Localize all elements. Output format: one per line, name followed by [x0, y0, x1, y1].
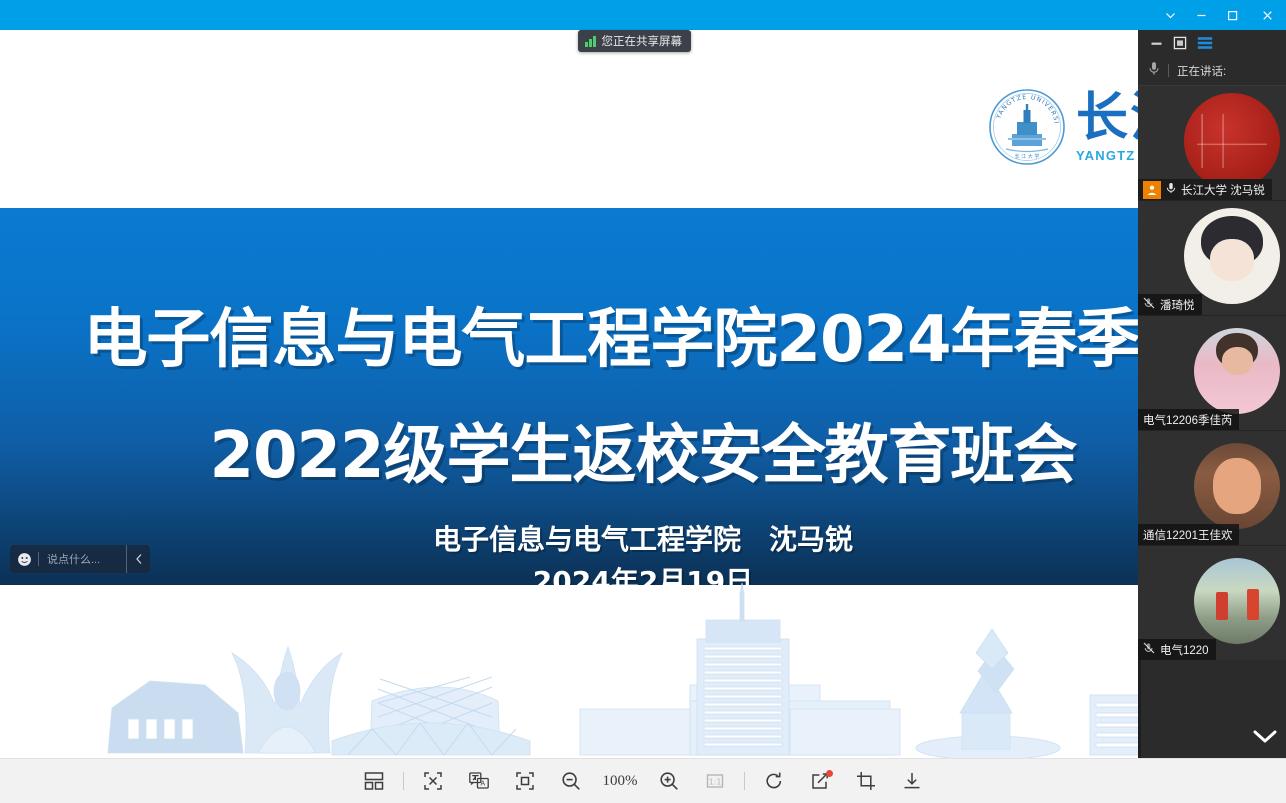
minimize-icon[interactable] — [1186, 0, 1217, 30]
microphone-muted-icon — [1143, 642, 1155, 657]
now-speaking-label: 正在讲话: — [1177, 63, 1226, 79]
slide-banner: 电子信息与电气工程学院2024年春季学 2022级学生返校安全教育班会 电子信息… — [0, 208, 1286, 585]
notification-dot — [826, 770, 833, 777]
slide-subtitle-line1: 电子信息与电气工程学院 沈马锐 — [0, 518, 1286, 558]
host-badge-icon — [1143, 181, 1161, 199]
crop-button[interactable] — [843, 759, 889, 803]
maximize-icon[interactable] — [1217, 0, 1248, 30]
participant-name-chip: 通信12201王佳欢 — [1138, 524, 1239, 545]
microphone-muted-icon — [1143, 297, 1155, 312]
annotate-button[interactable] — [797, 759, 843, 803]
university-seal-icon: YANGTZE UNIVERSITY 长 江 大 学 — [988, 88, 1066, 166]
participants-panel: 正在讲话: — [1138, 30, 1286, 758]
chevron-down-icon[interactable] — [1155, 0, 1186, 30]
avatar — [1194, 443, 1280, 529]
screen-sharing-label: 您正在共享屏幕 — [602, 33, 683, 49]
chevron-left-icon[interactable] — [126, 545, 150, 573]
layout-button[interactable] — [351, 759, 397, 803]
participant-name-chip: 长江大学 沈马锐 — [1138, 179, 1272, 200]
svg-text:长 江 大 学: 长 江 大 学 — [1015, 153, 1040, 160]
participant-name: 电气12206季佳芮 — [1143, 412, 1232, 428]
screen-sharing-banner: 您正在共享屏幕 — [578, 30, 691, 52]
slide-title-line1: 电子信息与电气工程学院2024年春季学 — [0, 288, 1286, 380]
participant-name: 电气1220 — [1160, 642, 1209, 658]
close-icon[interactable] — [1248, 0, 1286, 30]
signal-bars-icon — [585, 36, 596, 47]
participant-tile[interactable]: 通信12201王佳欢 — [1138, 431, 1286, 545]
chat-input-bar[interactable]: 说点什么... — [10, 545, 150, 573]
zoom-in-button[interactable] — [646, 759, 692, 803]
window-controls — [1155, 0, 1286, 30]
participant-tiles: 长江大学 沈马锐 潘琦悦 — [1138, 86, 1286, 660]
participant-tile[interactable]: 长江大学 沈马锐 — [1138, 86, 1286, 200]
chat-input-placeholder[interactable]: 说点什么... — [39, 551, 126, 567]
chevron-down-icon[interactable] — [1248, 724, 1282, 750]
fullscreen-button[interactable] — [502, 759, 548, 803]
rotate-button[interactable] — [751, 759, 797, 803]
presentation-slide: YANGTZE UNIVERSITY 长 江 大 学 长江 YANGTZ — [0, 30, 1286, 758]
slide-title-line2: 2022级学生返校安全教育班会 — [0, 404, 1286, 496]
participant-name: 潘琦悦 — [1160, 297, 1195, 313]
participant-name-chip: 潘琦悦 — [1138, 294, 1202, 315]
shared-screen-stage: YANGTZE UNIVERSITY 长 江 大 学 长江 YANGTZ — [0, 30, 1286, 758]
avatar — [1184, 208, 1280, 304]
divider — [403, 772, 404, 790]
participant-name: 通信12201王佳欢 — [1143, 527, 1232, 543]
panel-header — [1138, 30, 1286, 56]
smiley-icon[interactable] — [10, 552, 38, 567]
participant-tile[interactable]: 电气12206季佳芮 — [1138, 316, 1286, 430]
window-titlebar — [0, 0, 1286, 30]
app-root: 您正在共享屏幕 YANGTZE UNIVERSITY — [0, 0, 1286, 803]
zoom-out-button[interactable] — [548, 759, 594, 803]
viewer-toolbar: A 100% 1:1 — [0, 758, 1286, 803]
svg-text:A: A — [480, 780, 485, 788]
now-speaking-row: 正在讲话: — [1138, 56, 1286, 86]
minus-icon[interactable] — [1150, 37, 1163, 50]
microphone-on-icon — [1166, 182, 1176, 197]
microphone-icon — [1148, 61, 1160, 81]
city-skyline-illustration — [0, 573, 1286, 758]
list-icon[interactable] — [1197, 36, 1213, 50]
participant-name-chip: 电气1220 — [1138, 639, 1216, 660]
participant-tile[interactable]: 电气1220 — [1138, 546, 1286, 660]
divider — [1168, 64, 1169, 77]
participant-name-chip: 电气12206季佳芮 — [1138, 409, 1239, 430]
restore-icon[interactable] — [1173, 36, 1187, 50]
avatar — [1194, 328, 1280, 414]
participant-tile[interactable]: 潘琦悦 — [1138, 201, 1286, 315]
fit-screen-button[interactable] — [410, 759, 456, 803]
download-button[interactable] — [889, 759, 935, 803]
participant-name: 长江大学 沈马锐 — [1181, 182, 1265, 198]
actual-size-button[interactable]: 1:1 — [692, 759, 738, 803]
svg-text:1:1: 1:1 — [709, 778, 722, 787]
avatar — [1184, 93, 1280, 189]
translate-button[interactable]: A — [456, 759, 502, 803]
zoom-level-label: 100% — [594, 773, 646, 790]
divider — [744, 772, 745, 790]
avatar — [1194, 558, 1280, 644]
